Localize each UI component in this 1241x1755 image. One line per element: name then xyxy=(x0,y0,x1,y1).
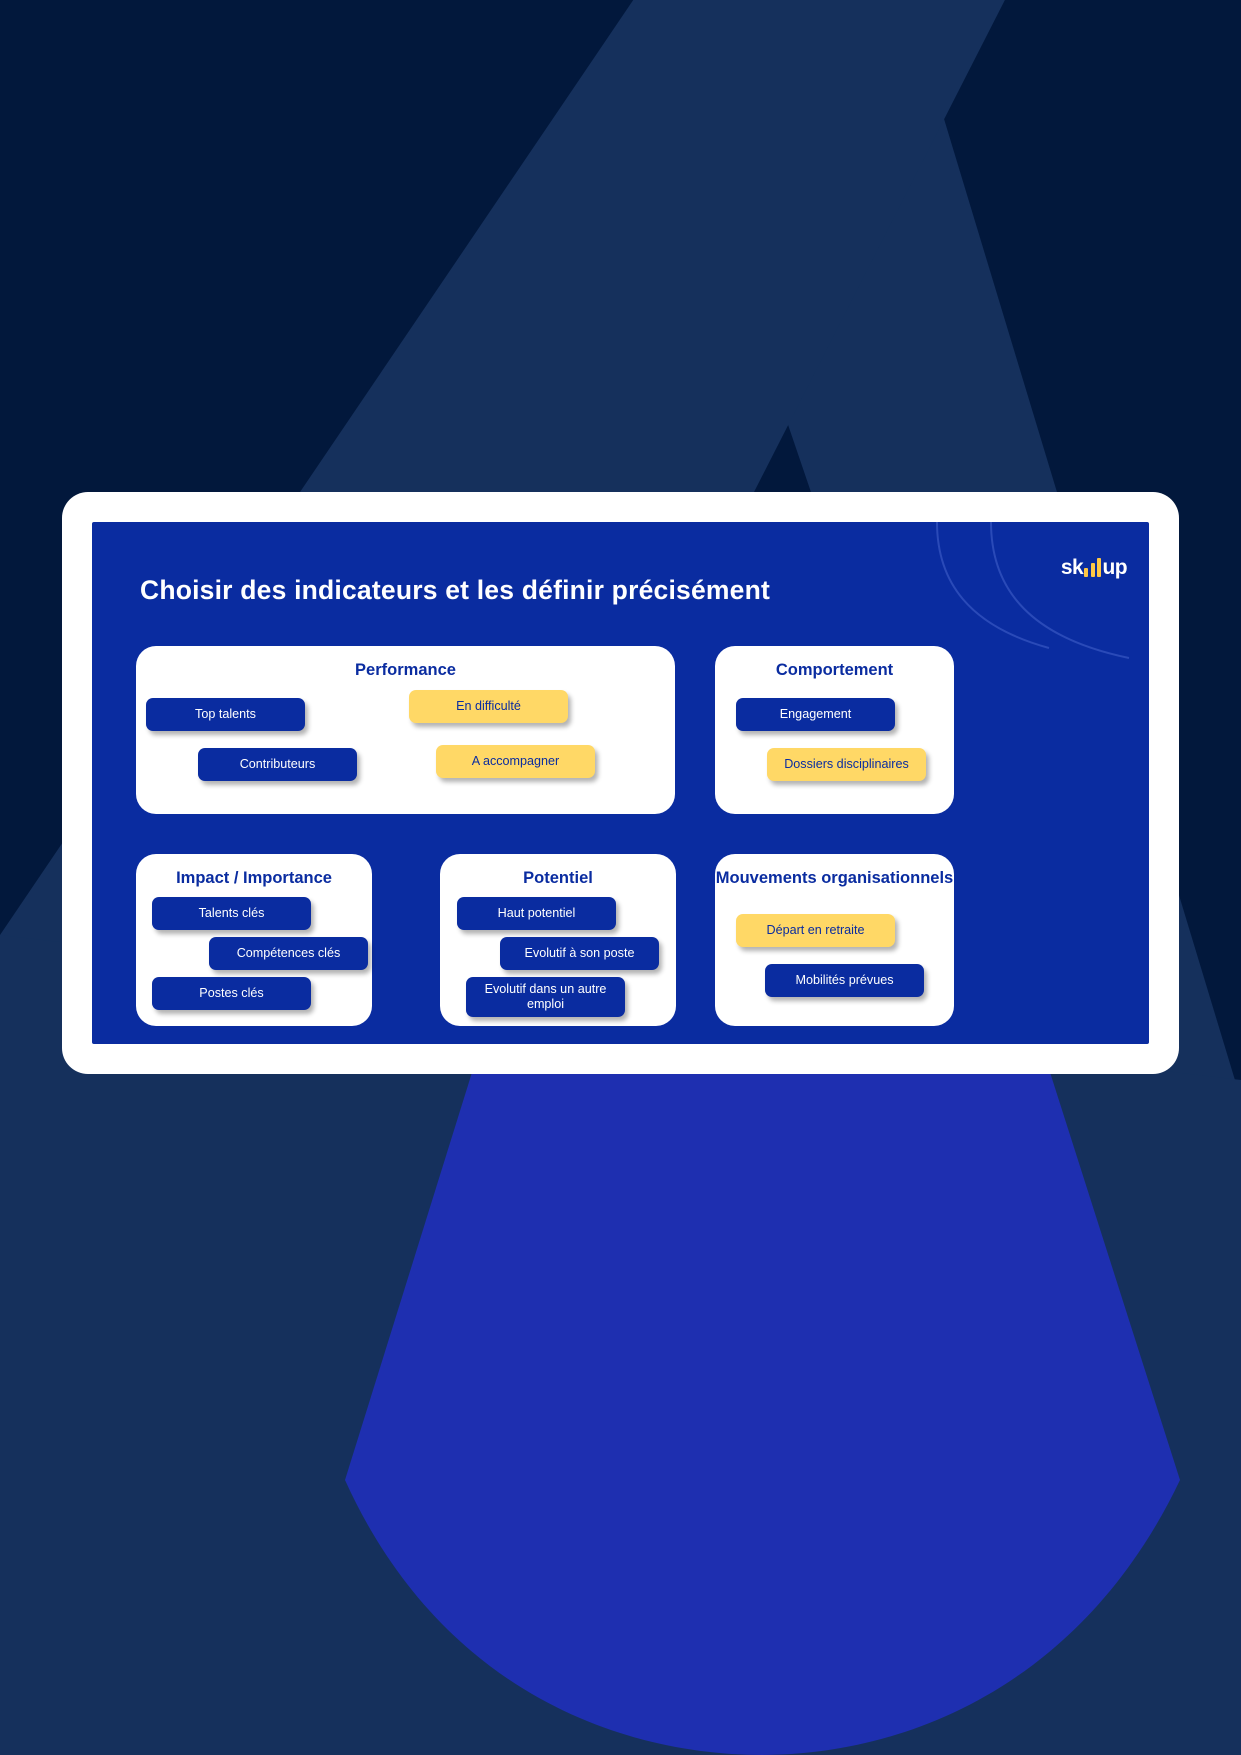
page-title: Choisir des indicateurs et les définir p… xyxy=(140,575,770,606)
slide-card: Choisir des indicateurs et les définir p… xyxy=(62,492,1179,1074)
logo-text-left: sk xyxy=(1061,557,1083,578)
category-title: Potentiel xyxy=(440,854,676,889)
category-grid: Performance Top talents Contributeurs En… xyxy=(136,646,1105,1024)
chip-talents-cles[interactable]: Talents clés xyxy=(152,897,311,930)
skillup-logo: sk up xyxy=(1061,552,1127,578)
chip-competences-cles[interactable]: Compétences clés xyxy=(209,937,368,970)
category-card-potentiel: Potentiel Haut potentiel Evolutif à son … xyxy=(440,854,676,1026)
logo-text-right: up xyxy=(1103,557,1127,578)
chip-contributeurs[interactable]: Contributeurs xyxy=(198,748,357,781)
slide-inner-panel: Choisir des indicateurs et les définir p… xyxy=(92,522,1149,1044)
chip-evolutif-a-son-poste[interactable]: Evolutif à son poste xyxy=(500,937,659,970)
chip-depart-en-retraite[interactable]: Départ en retraite xyxy=(736,914,895,947)
category-title: Impact / Importance xyxy=(136,854,372,889)
chip-en-difficulte[interactable]: En difficulté xyxy=(409,690,568,723)
category-title: Comportement xyxy=(715,646,954,681)
chip-evolutif-dans-un-autre-emploi[interactable]: Evolutif dans un autre emploi xyxy=(466,977,625,1017)
category-card-mouvements-organisationnels: Mouvements organisationnels Départ en re… xyxy=(715,854,954,1026)
chip-a-accompagner[interactable]: A accompagner xyxy=(436,745,595,778)
chip-top-talents[interactable]: Top talents xyxy=(146,698,305,731)
chip-haut-potentiel[interactable]: Haut potentiel xyxy=(457,897,616,930)
category-card-performance: Performance Top talents Contributeurs En… xyxy=(136,646,675,814)
chip-engagement[interactable]: Engagement xyxy=(736,698,895,731)
chip-mobilites-prevues[interactable]: Mobilités prévues xyxy=(765,964,924,997)
category-title: Mouvements organisationnels xyxy=(715,854,954,889)
chip-dossiers-disciplinaires[interactable]: Dossiers disciplinaires xyxy=(767,748,926,781)
category-card-impact-importance: Impact / Importance Talents clés Compéte… xyxy=(136,854,372,1026)
panel-header: Choisir des indicateurs et les définir p… xyxy=(92,522,1149,662)
category-title: Performance xyxy=(136,646,675,681)
logo-bars-icon xyxy=(1084,558,1101,577)
category-card-comportement: Comportement Engagement Dossiers discipl… xyxy=(715,646,954,814)
chip-postes-cles[interactable]: Postes clés xyxy=(152,977,311,1010)
